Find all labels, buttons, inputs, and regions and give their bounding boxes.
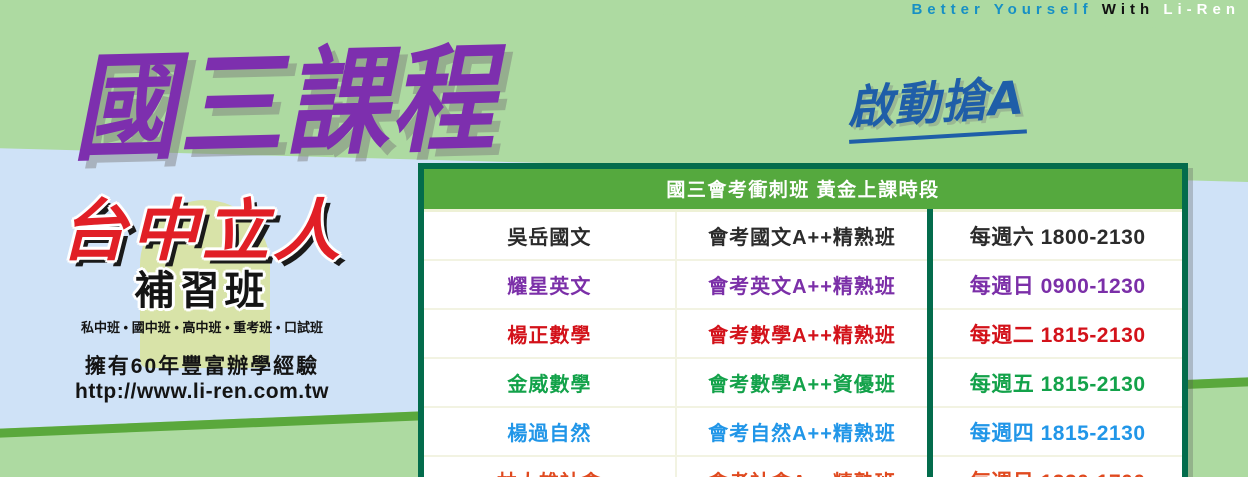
page-title: 國三課程 — [70, 4, 498, 183]
table-header-row: 國三會考衝刺班 黃金上課時段 — [421, 166, 1185, 211]
cell-teacher: 耀星英文 — [421, 260, 676, 309]
cell-time: 每週五 1815-2130 — [930, 358, 1185, 407]
table-row: 楊過自然會考自然A++精熟班每週四 1815-2130 — [421, 407, 1185, 456]
poster-canvas: Better Yourself With Li-Ren 國三課程 啟動搶A 台中… — [0, 0, 1248, 477]
cell-course: 會考數學A++資優班 — [676, 358, 931, 407]
schedule-table-head: 國三會考衝刺班 黃金上課時段 — [421, 166, 1185, 211]
cell-course: 會考英文A++精熟班 — [676, 260, 931, 309]
cell-course: 會考國文A++精熟班 — [676, 211, 931, 261]
cell-time: 每週日 0900-1230 — [930, 260, 1185, 309]
logo-class-list: 私中班 • 國中班 • 高中班 • 重考班 • 口試班 — [22, 317, 382, 336]
logo-website-url[interactable]: http://www.li-ren.com.tw — [22, 380, 382, 404]
cell-course: 會考自然A++精熟班 — [676, 407, 931, 456]
cell-time: 每週四 1815-2130 — [930, 407, 1185, 456]
schedule-table-title: 國三會考衝刺班 黃金上課時段 — [421, 166, 1185, 211]
cell-course: 會考數學A++精熟班 — [676, 309, 931, 358]
table-row: 耀星英文會考英文A++精熟班每週日 0900-1230 — [421, 260, 1185, 309]
cell-teacher: 金威數學 — [421, 358, 676, 407]
tagline-part-2: With — [1102, 1, 1154, 18]
table-row: 林大雄社會會考社會A++精熟班每週日 1330-1700 — [421, 456, 1185, 477]
cell-teacher: 林大雄社會 — [421, 456, 676, 477]
table-row: 吳岳國文會考國文A++精熟班每週六 1800-2130 — [421, 211, 1185, 261]
cell-teacher: 吳岳國文 — [421, 211, 676, 261]
cell-course: 會考社會A++精熟班 — [676, 456, 931, 477]
cell-teacher: 楊正數學 — [421, 309, 676, 358]
page-subtitle: 啟動搶A — [845, 61, 1027, 143]
table-row: 楊正數學會考數學A++精熟班每週二 1815-2130 — [421, 309, 1185, 358]
cell-time: 每週六 1800-2130 — [930, 211, 1185, 261]
schedule-table-body: 吳岳國文會考國文A++精熟班每週六 1800-2130耀星英文會考英文A++精熟… — [421, 211, 1185, 477]
brand-tagline: Better Yourself With Li-Ren — [911, 1, 1240, 18]
logo-experience-text: 擁有60年豐富辦學經驗 — [22, 350, 382, 380]
cell-time: 每週日 1330-1700 — [930, 456, 1185, 477]
cell-teacher: 楊過自然 — [421, 407, 676, 456]
school-logo: 台中立人 補習班 私中班 • 國中班 • 高中班 • 重考班 • 口試班 擁有6… — [22, 196, 382, 404]
tagline-part-1: Better Yourself — [911, 1, 1092, 18]
table-row: 金威數學會考數學A++資優班每週五 1815-2130 — [421, 358, 1185, 407]
logo-brand-name: 台中立人 — [22, 196, 382, 266]
cell-time: 每週二 1815-2130 — [930, 309, 1185, 358]
schedule-table: 國三會考衝刺班 黃金上課時段 吳岳國文會考國文A++精熟班每週六 1800-21… — [418, 163, 1188, 477]
tagline-part-3: Li-Ren — [1163, 1, 1240, 18]
